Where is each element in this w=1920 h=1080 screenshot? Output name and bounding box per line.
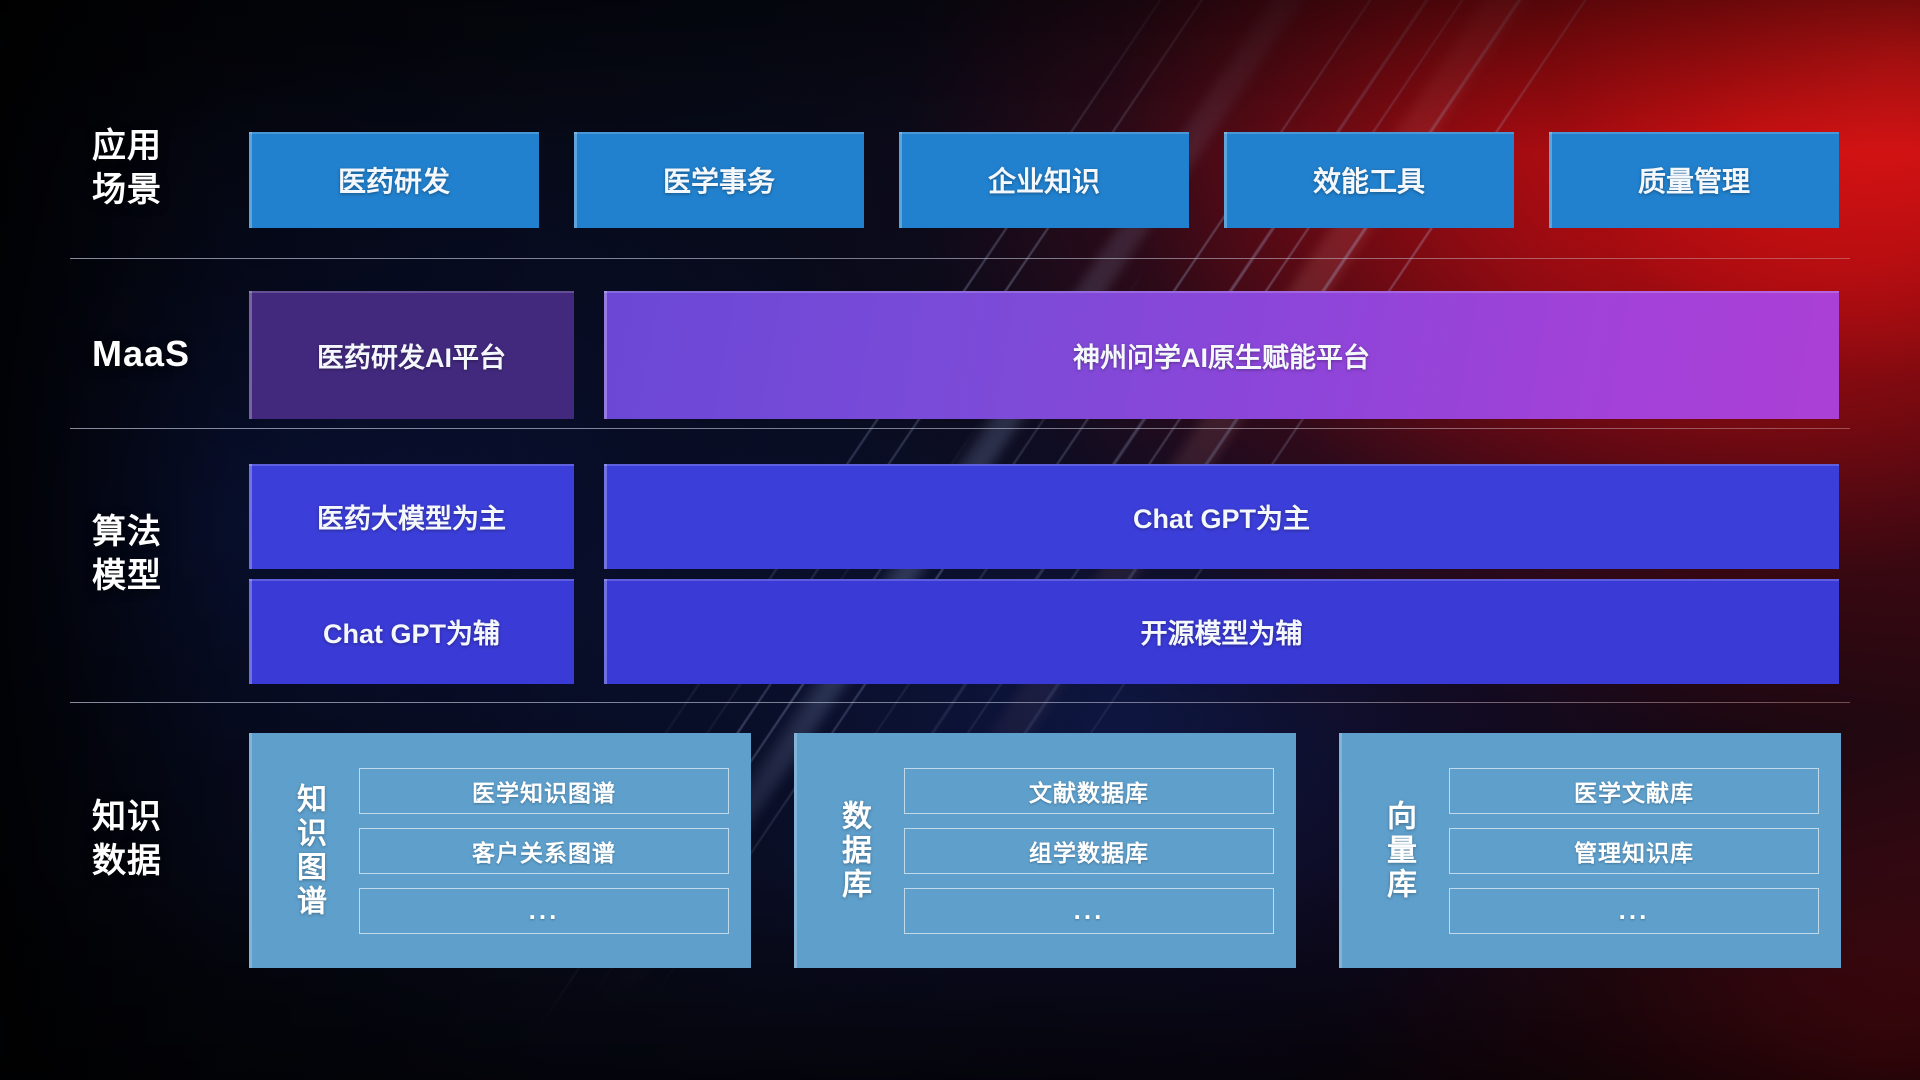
app-card-label: 效能工具 (1313, 160, 1425, 200)
card-edge-highlight-top (249, 291, 574, 293)
knowledge-panel-knowledge-graph[interactable]: 知识图谱 医学知识图谱 客户关系图谱 ... (249, 733, 751, 968)
knowledge-panel-title: 数据库 (810, 733, 896, 968)
knowledge-panel-title: 向量库 (1355, 733, 1441, 968)
card-edge-highlight-top (249, 579, 574, 581)
knowledge-panel-items: 医学文献库 管理知识库 ... (1441, 733, 1841, 968)
divider-application-maas (70, 258, 1850, 259)
row-label-knowledge: 知识 数据 (92, 795, 242, 883)
app-card-medical-affairs[interactable]: 医学事务 (574, 132, 864, 228)
algo-card-label: Chat GPT为主 (1133, 497, 1310, 536)
card-edge-highlight-top (604, 464, 1839, 466)
card-edge-highlight-top (899, 132, 1189, 134)
card-edge-highlight (1224, 132, 1227, 228)
app-card-label: 质量管理 (1638, 160, 1750, 200)
maas-card-label: 医药研发AI平台 (317, 336, 506, 375)
app-card-efficiency-tools[interactable]: 效能工具 (1224, 132, 1514, 228)
knowledge-item[interactable]: 医学文献库 (1449, 768, 1819, 814)
card-edge-highlight-top (574, 132, 864, 134)
card-edge-highlight-top (604, 579, 1839, 581)
knowledge-item[interactable]: 管理知识库 (1449, 828, 1819, 874)
row-label-application: 应用 场景 (92, 124, 242, 212)
app-card-label: 医学事务 (663, 160, 775, 200)
knowledge-panel-vector-store[interactable]: 向量库 医学文献库 管理知识库 ... (1339, 733, 1841, 968)
card-edge-highlight-top (1549, 132, 1839, 134)
algo-card-opensource-secondary[interactable]: 开源模型为辅 (604, 579, 1839, 684)
app-card-medicine-rd[interactable]: 医药研发 (249, 132, 539, 228)
maas-card-shenzhou-wenxue-platform[interactable]: 神州问学AI原生赋能平台 (604, 291, 1839, 419)
app-card-label: 企业知识 (988, 160, 1100, 200)
card-edge-highlight (604, 291, 607, 419)
card-edge-highlight-top (249, 132, 539, 134)
knowledge-panel-items: 文献数据库 组学数据库 ... (896, 733, 1296, 968)
app-card-enterprise-knowledge[interactable]: 企业知识 (899, 132, 1189, 228)
algo-card-medicine-large-model-primary[interactable]: 医药大模型为主 (249, 464, 574, 569)
knowledge-item[interactable]: 医学知识图谱 (359, 768, 729, 814)
app-card-label: 医药研发 (338, 160, 450, 200)
knowledge-item-more[interactable]: ... (904, 888, 1274, 934)
card-edge-highlight-top (249, 464, 574, 466)
algo-card-label: 开源模型为辅 (1141, 612, 1303, 651)
panel-edge-highlight (1339, 733, 1342, 968)
algo-card-chatgpt-secondary[interactable]: Chat GPT为辅 (249, 579, 574, 684)
knowledge-item-more[interactable]: ... (359, 888, 729, 934)
algo-card-chatgpt-primary[interactable]: Chat GPT为主 (604, 464, 1839, 569)
card-edge-highlight (574, 132, 577, 228)
maas-card-medicine-ai-platform[interactable]: 医药研发AI平台 (249, 291, 574, 419)
card-edge-highlight-top (604, 291, 1839, 293)
knowledge-panel-items: 医学知识图谱 客户关系图谱 ... (351, 733, 751, 968)
card-edge-highlight (249, 291, 252, 419)
row-label-algorithm: 算法 模型 (92, 510, 242, 598)
knowledge-item-more[interactable]: ... (1449, 888, 1819, 934)
card-edge-highlight (249, 579, 252, 684)
knowledge-item[interactable]: 文献数据库 (904, 768, 1274, 814)
app-card-quality-management[interactable]: 质量管理 (1549, 132, 1839, 228)
panel-edge-highlight (249, 733, 252, 968)
knowledge-panel-database[interactable]: 数据库 文献数据库 组学数据库 ... (794, 733, 1296, 968)
slide-canvas: 应用 场景 医药研发 医学事务 企业知识 效能工具 质量管理 (0, 0, 1920, 1080)
algo-card-label: 医药大模型为主 (317, 497, 506, 536)
knowledge-item[interactable]: 组学数据库 (904, 828, 1274, 874)
card-edge-highlight (604, 464, 607, 569)
panel-edge-highlight (794, 733, 797, 968)
card-edge-highlight (1549, 132, 1552, 228)
divider-algorithm-knowledge (70, 702, 1850, 703)
card-edge-highlight (249, 464, 252, 569)
algo-card-label: Chat GPT为辅 (323, 612, 500, 651)
knowledge-item[interactable]: 客户关系图谱 (359, 828, 729, 874)
knowledge-panel-title: 知识图谱 (265, 733, 351, 968)
card-edge-highlight (604, 579, 607, 684)
maas-card-label: 神州问学AI原生赋能平台 (1073, 336, 1370, 375)
row-label-maas: MaaS (92, 332, 242, 376)
divider-maas-algorithm (70, 428, 1850, 429)
card-edge-highlight (249, 132, 252, 228)
card-edge-highlight (899, 132, 902, 228)
card-edge-highlight-top (1224, 132, 1514, 134)
